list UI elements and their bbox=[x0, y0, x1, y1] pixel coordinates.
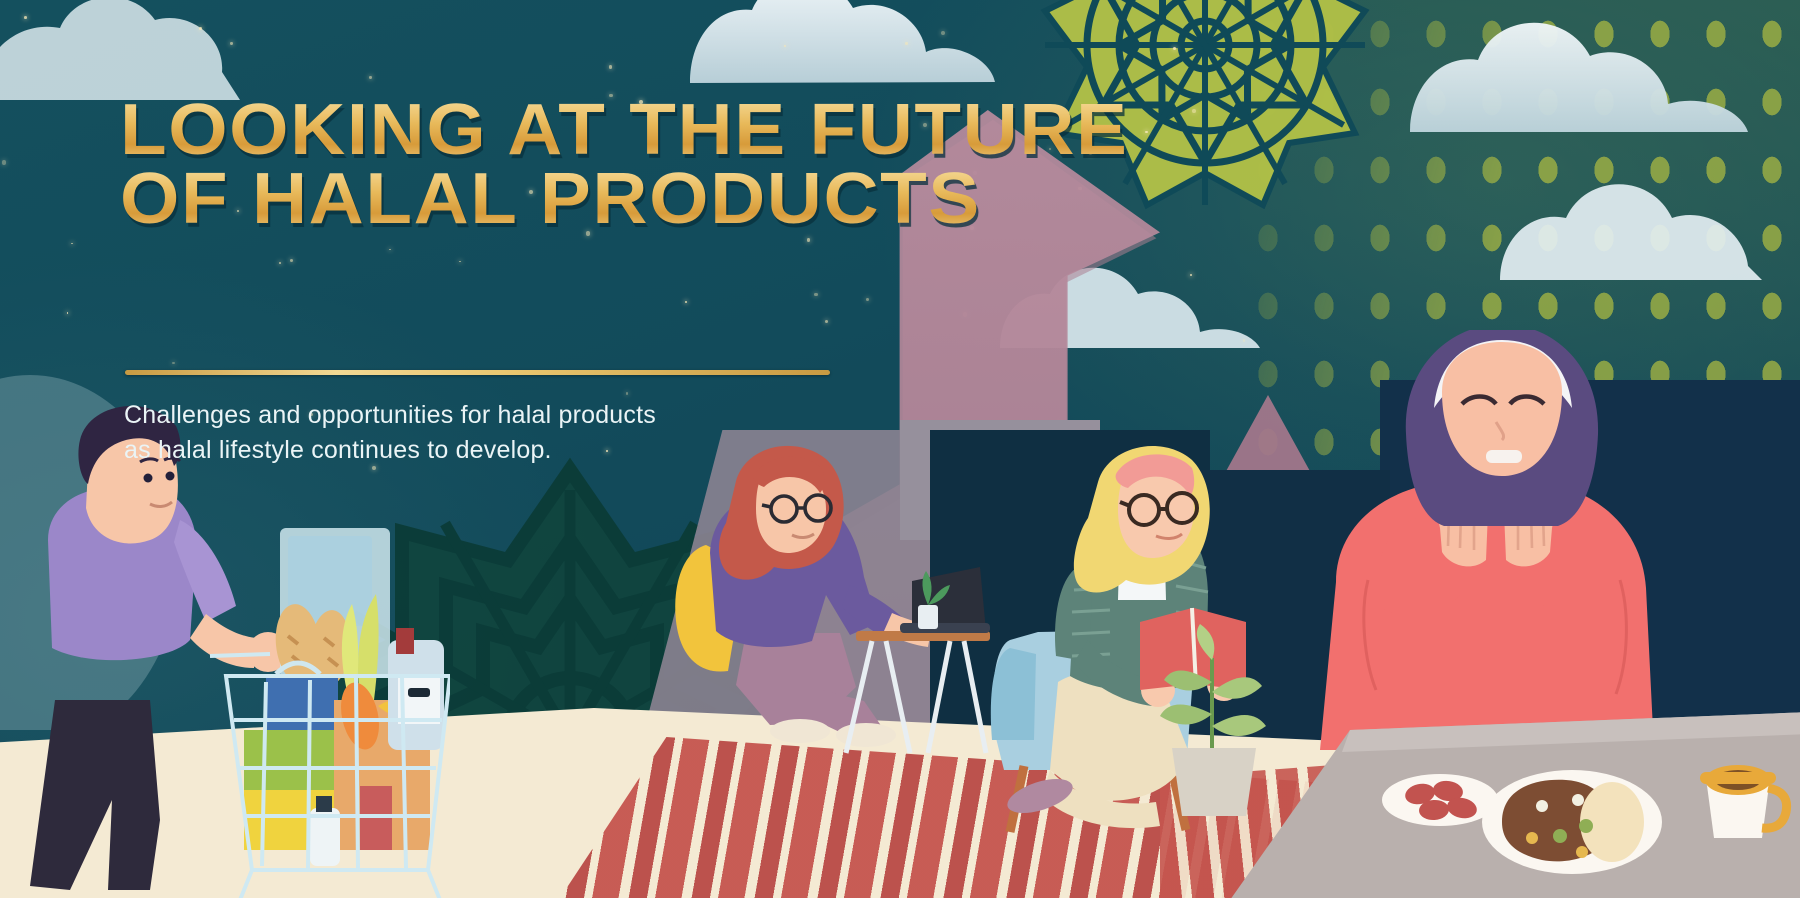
mouth bbox=[1486, 450, 1522, 463]
eye bbox=[166, 472, 175, 481]
star-dot bbox=[814, 293, 818, 297]
star-dot bbox=[2, 160, 6, 164]
potted-plant-pot bbox=[918, 605, 938, 629]
leaf bbox=[1160, 704, 1212, 724]
cup-rim bbox=[1700, 772, 1776, 784]
arm bbox=[190, 614, 256, 668]
star-dot bbox=[1192, 109, 1196, 113]
star-dot bbox=[626, 392, 628, 394]
cloud-right-lower-icon bbox=[1500, 130, 1800, 300]
dining-table-illustration bbox=[1230, 660, 1800, 898]
eye bbox=[144, 474, 153, 483]
trousers bbox=[30, 700, 160, 890]
shopper-man-illustration bbox=[30, 400, 450, 898]
gold-divider bbox=[125, 370, 830, 375]
star-dot bbox=[24, 16, 27, 19]
page-title: LOOKING AT THE FUTURE OF HALAL PRODUCTS bbox=[120, 96, 1100, 234]
title-line-2: OF HALAL PRODUCTS bbox=[120, 165, 1159, 234]
leaf bbox=[1197, 624, 1214, 660]
star-dot bbox=[199, 27, 202, 30]
hero-banner: LOOKING AT THE FUTURE OF HALAL PRODUCTS … bbox=[0, 0, 1800, 898]
star-dot bbox=[866, 298, 869, 301]
star-dot bbox=[290, 259, 293, 262]
star-dot bbox=[172, 362, 175, 365]
star-dot bbox=[369, 76, 371, 78]
shoe bbox=[836, 723, 896, 747]
title-line-1: LOOKING AT THE FUTURE bbox=[120, 96, 1159, 165]
star-dot bbox=[279, 262, 281, 264]
star-dot bbox=[230, 42, 232, 44]
page-subtitle: Challenges and opportunities for halal p… bbox=[124, 398, 844, 467]
star-dot bbox=[609, 65, 613, 69]
star-dot bbox=[71, 243, 72, 244]
subtitle-line-1: Challenges and opportunities for halal p… bbox=[124, 398, 844, 433]
laptop-keyboard bbox=[900, 623, 990, 633]
subtitle-line-2: as halal lifestyle continues to develop. bbox=[124, 433, 844, 468]
woman-at-laptop-illustration bbox=[650, 435, 990, 765]
star-dot bbox=[905, 42, 908, 45]
star-dot bbox=[1190, 274, 1192, 276]
star-dot bbox=[1173, 47, 1176, 50]
shoe bbox=[770, 719, 830, 743]
leaf bbox=[1164, 670, 1212, 690]
